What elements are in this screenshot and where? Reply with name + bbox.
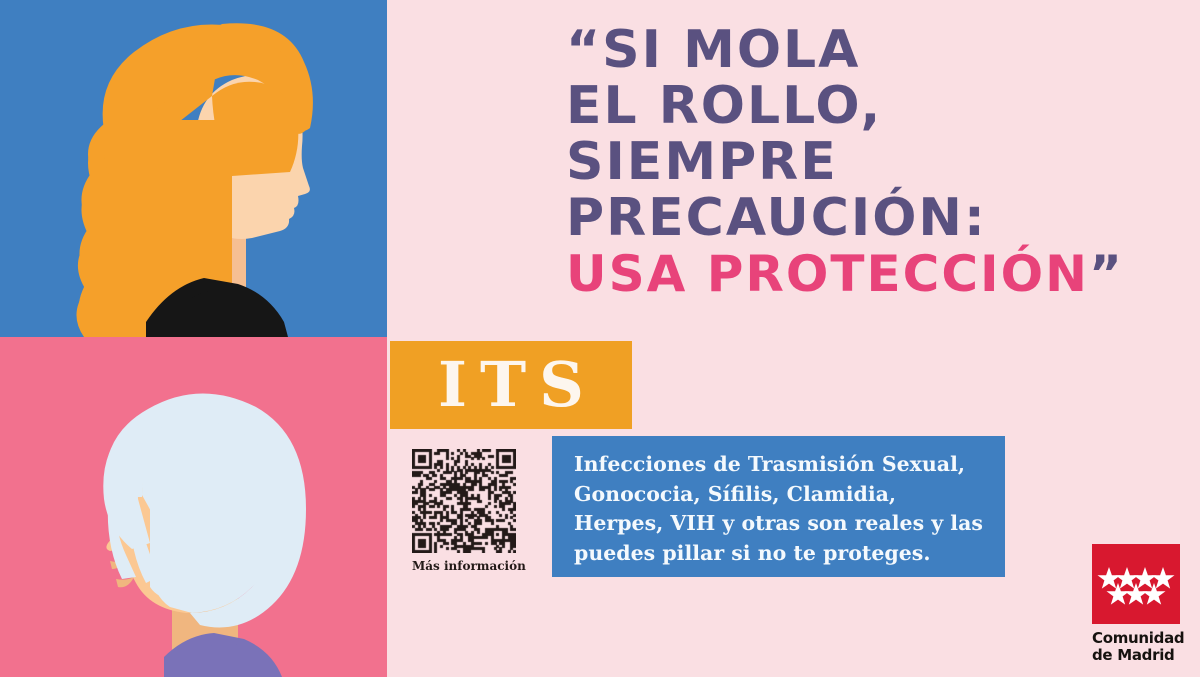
madrid-logo-name-line-2: de Madrid [1092,647,1188,664]
description-box: Infecciones de Trasmisión Sexual, Gonoco… [552,436,1005,577]
headline-line-1: “SI MOLA [566,22,1186,78]
qr-block[interactable]: Más información [412,449,520,573]
illustration-column [0,0,387,677]
its-badge: ITS [390,341,632,429]
headline-closing-quote: ” [1089,245,1124,303]
poster-canvas: “SI MOLA EL ROLLO, SIEMPRE PRECAUCIÓN: U… [0,0,1200,677]
headline-accent-line: USA PROTECCIÓN” [566,246,1186,302]
madrid-logo-name-line-1: Comunidad [1092,630,1188,647]
qr-code-image[interactable] [412,449,516,553]
madrid-logo-name: Comunidad de Madrid [1092,630,1188,663]
its-label: ITS [425,354,597,416]
madrid-shield-icon [1092,544,1180,624]
comunidad-de-madrid-logo: Comunidad de Madrid [1092,544,1188,663]
illustration-woman-orange-hair [0,0,387,337]
description-text: Infecciones de Trasmisión Sexual, Gonoco… [574,450,987,568]
qr-caption: Más información [412,559,520,573]
headline-line-3: SIEMPRE [566,134,1186,190]
headline-line-4: PRECAUCIÓN: [566,190,1186,246]
illustration-woman-white-bob [0,337,387,677]
headline: “SI MOLA EL ROLLO, SIEMPRE PRECAUCIÓN: U… [566,22,1186,302]
headline-line-2: EL ROLLO, [566,78,1186,134]
headline-accent-text: USA PROTECCIÓN [566,245,1089,303]
